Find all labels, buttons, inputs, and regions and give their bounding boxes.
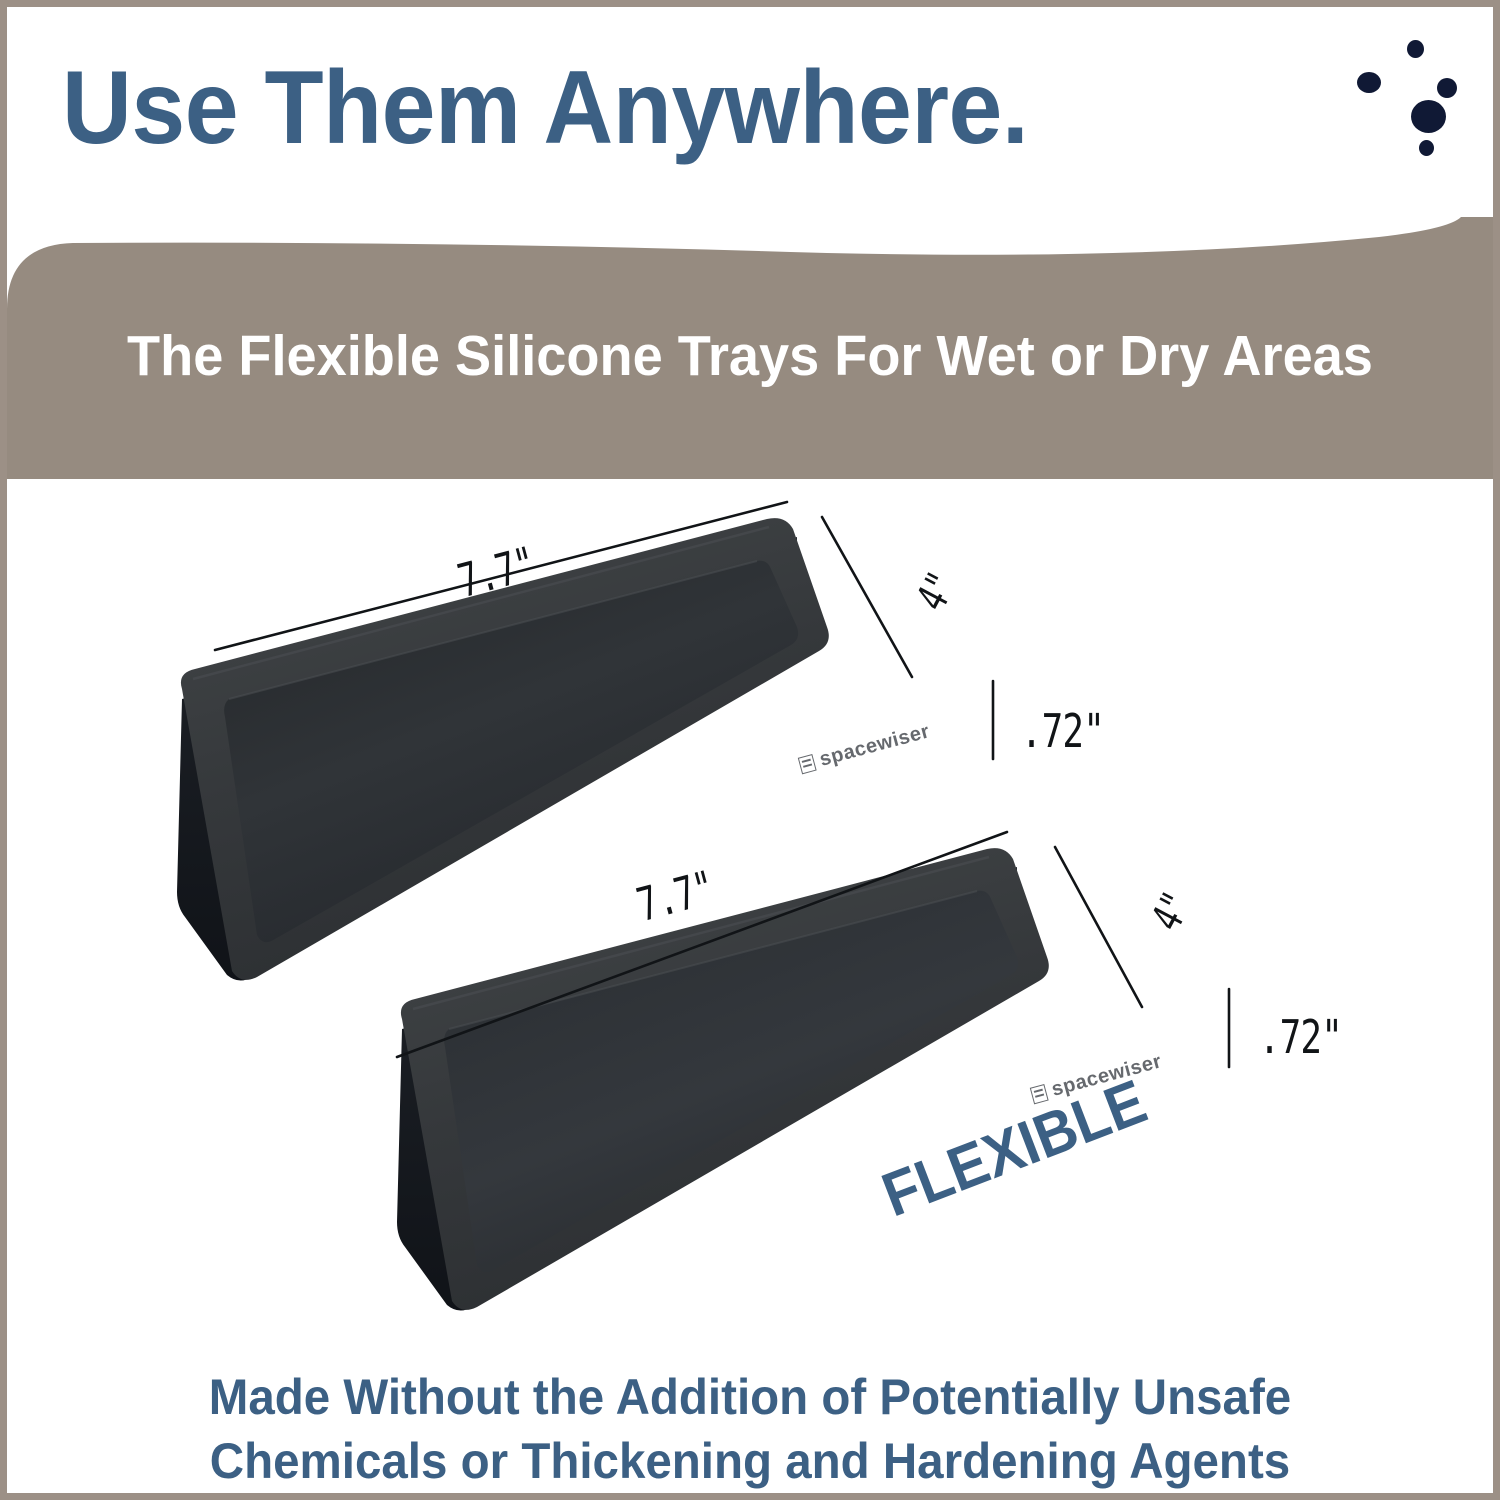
tray-upper-height-label: .72" [1021, 704, 1104, 758]
infographic-canvas: Use Them Anywhere. The Flexible Silicone… [0, 0, 1500, 1500]
dot-icon-3 [1437, 78, 1457, 98]
tray-lower-shape [397, 848, 1049, 1310]
dot-icon-4 [1411, 100, 1446, 133]
dot-icon-2 [1357, 72, 1381, 93]
page-title: Use Them Anywhere. [62, 55, 1028, 161]
dot-icon-1 [1407, 40, 1424, 58]
caption-line-1: Made Without the Addition of Potentially… [44, 1365, 1456, 1429]
dot-icon-5 [1419, 140, 1434, 156]
caption-line-2: Chemicals or Thickening and Hardening Ag… [44, 1429, 1456, 1493]
product-illustration [7, 477, 1500, 1377]
banner-subtitle: The Flexible Silicone Trays For Wet or D… [44, 323, 1456, 389]
tray-lower-height-label: .72" [1259, 1010, 1342, 1064]
decorative-dots-cluster [1347, 32, 1487, 192]
spacewiser-logo-icon [798, 754, 817, 774]
bottom-caption: Made Without the Addition of Potentially… [44, 1365, 1456, 1493]
